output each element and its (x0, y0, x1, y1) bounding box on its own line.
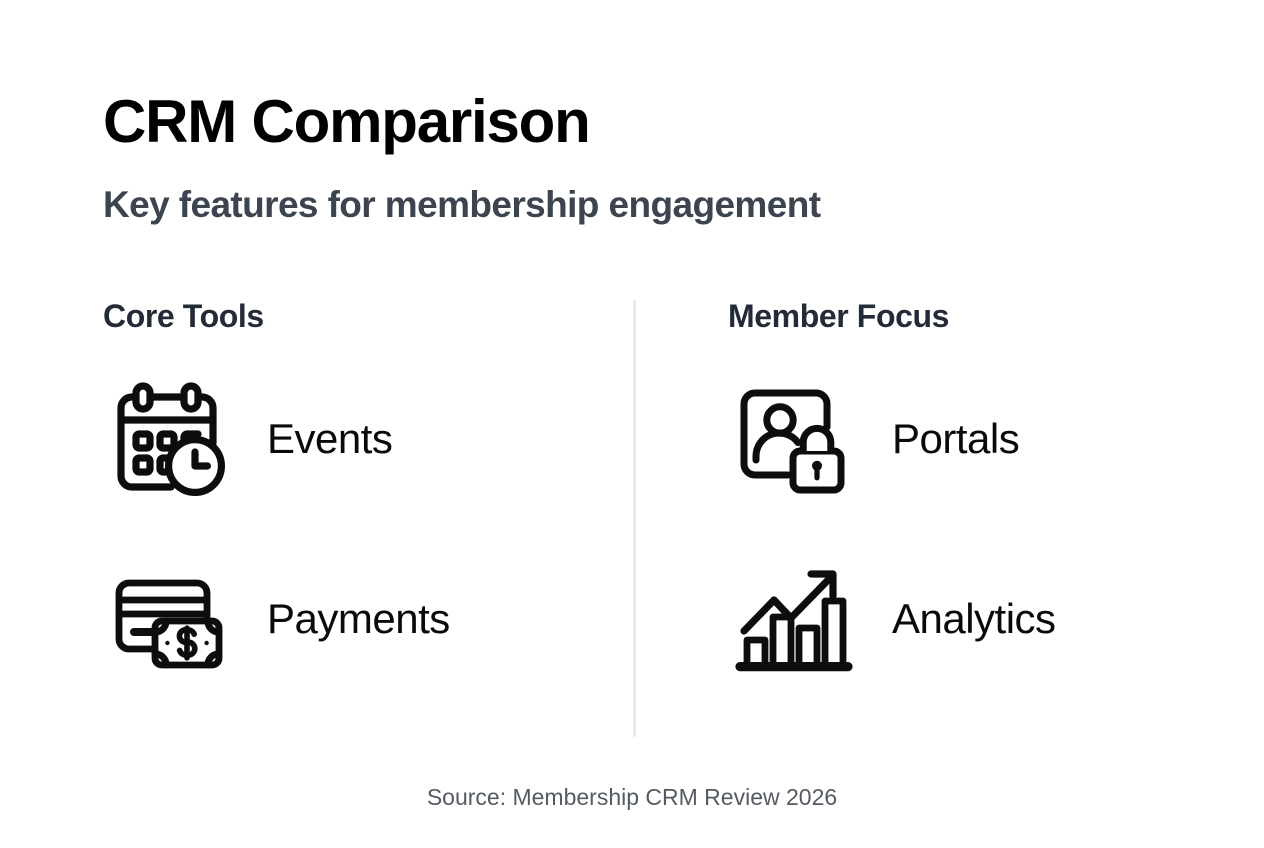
column-heading-member-focus: Member Focus (728, 300, 1198, 332)
credit-card-cash-icon (103, 555, 231, 683)
feature-label-portals: Portals (892, 418, 1019, 460)
feature-item-events: Events (103, 374, 573, 504)
slide-canvas: CRM Comparison Key features for membersh… (0, 0, 1264, 848)
column-core-tools: Core Tools (103, 300, 573, 684)
column-heading-core-tools: Core Tools (103, 300, 573, 332)
comparison-columns: Core Tools (103, 300, 1163, 740)
source-note: Source: Membership CRM Review 2026 (0, 786, 1264, 809)
page-subtitle: Key features for membership engagement (103, 152, 1163, 223)
feature-label-analytics: Analytics (892, 598, 1056, 640)
header: CRM Comparison Key features for membersh… (103, 92, 1163, 223)
feature-label-events: Events (267, 418, 392, 460)
page-title: CRM Comparison (103, 92, 1163, 152)
feature-item-analytics: Analytics (728, 554, 1198, 684)
footer: Source: Membership CRM Review 2026 (0, 786, 1264, 809)
feature-label-payments: Payments (267, 598, 450, 640)
feature-item-portals: Portals (728, 374, 1198, 504)
feature-list-core-tools: Events (103, 374, 573, 684)
feature-item-payments: Payments (103, 554, 573, 684)
column-member-focus: Member Focus (728, 300, 1198, 684)
column-divider (633, 300, 636, 737)
feature-list-member-focus: Portals (728, 374, 1198, 684)
user-lock-icon (728, 375, 856, 503)
calendar-clock-icon (103, 375, 231, 503)
bar-chart-trend-icon (728, 555, 856, 683)
